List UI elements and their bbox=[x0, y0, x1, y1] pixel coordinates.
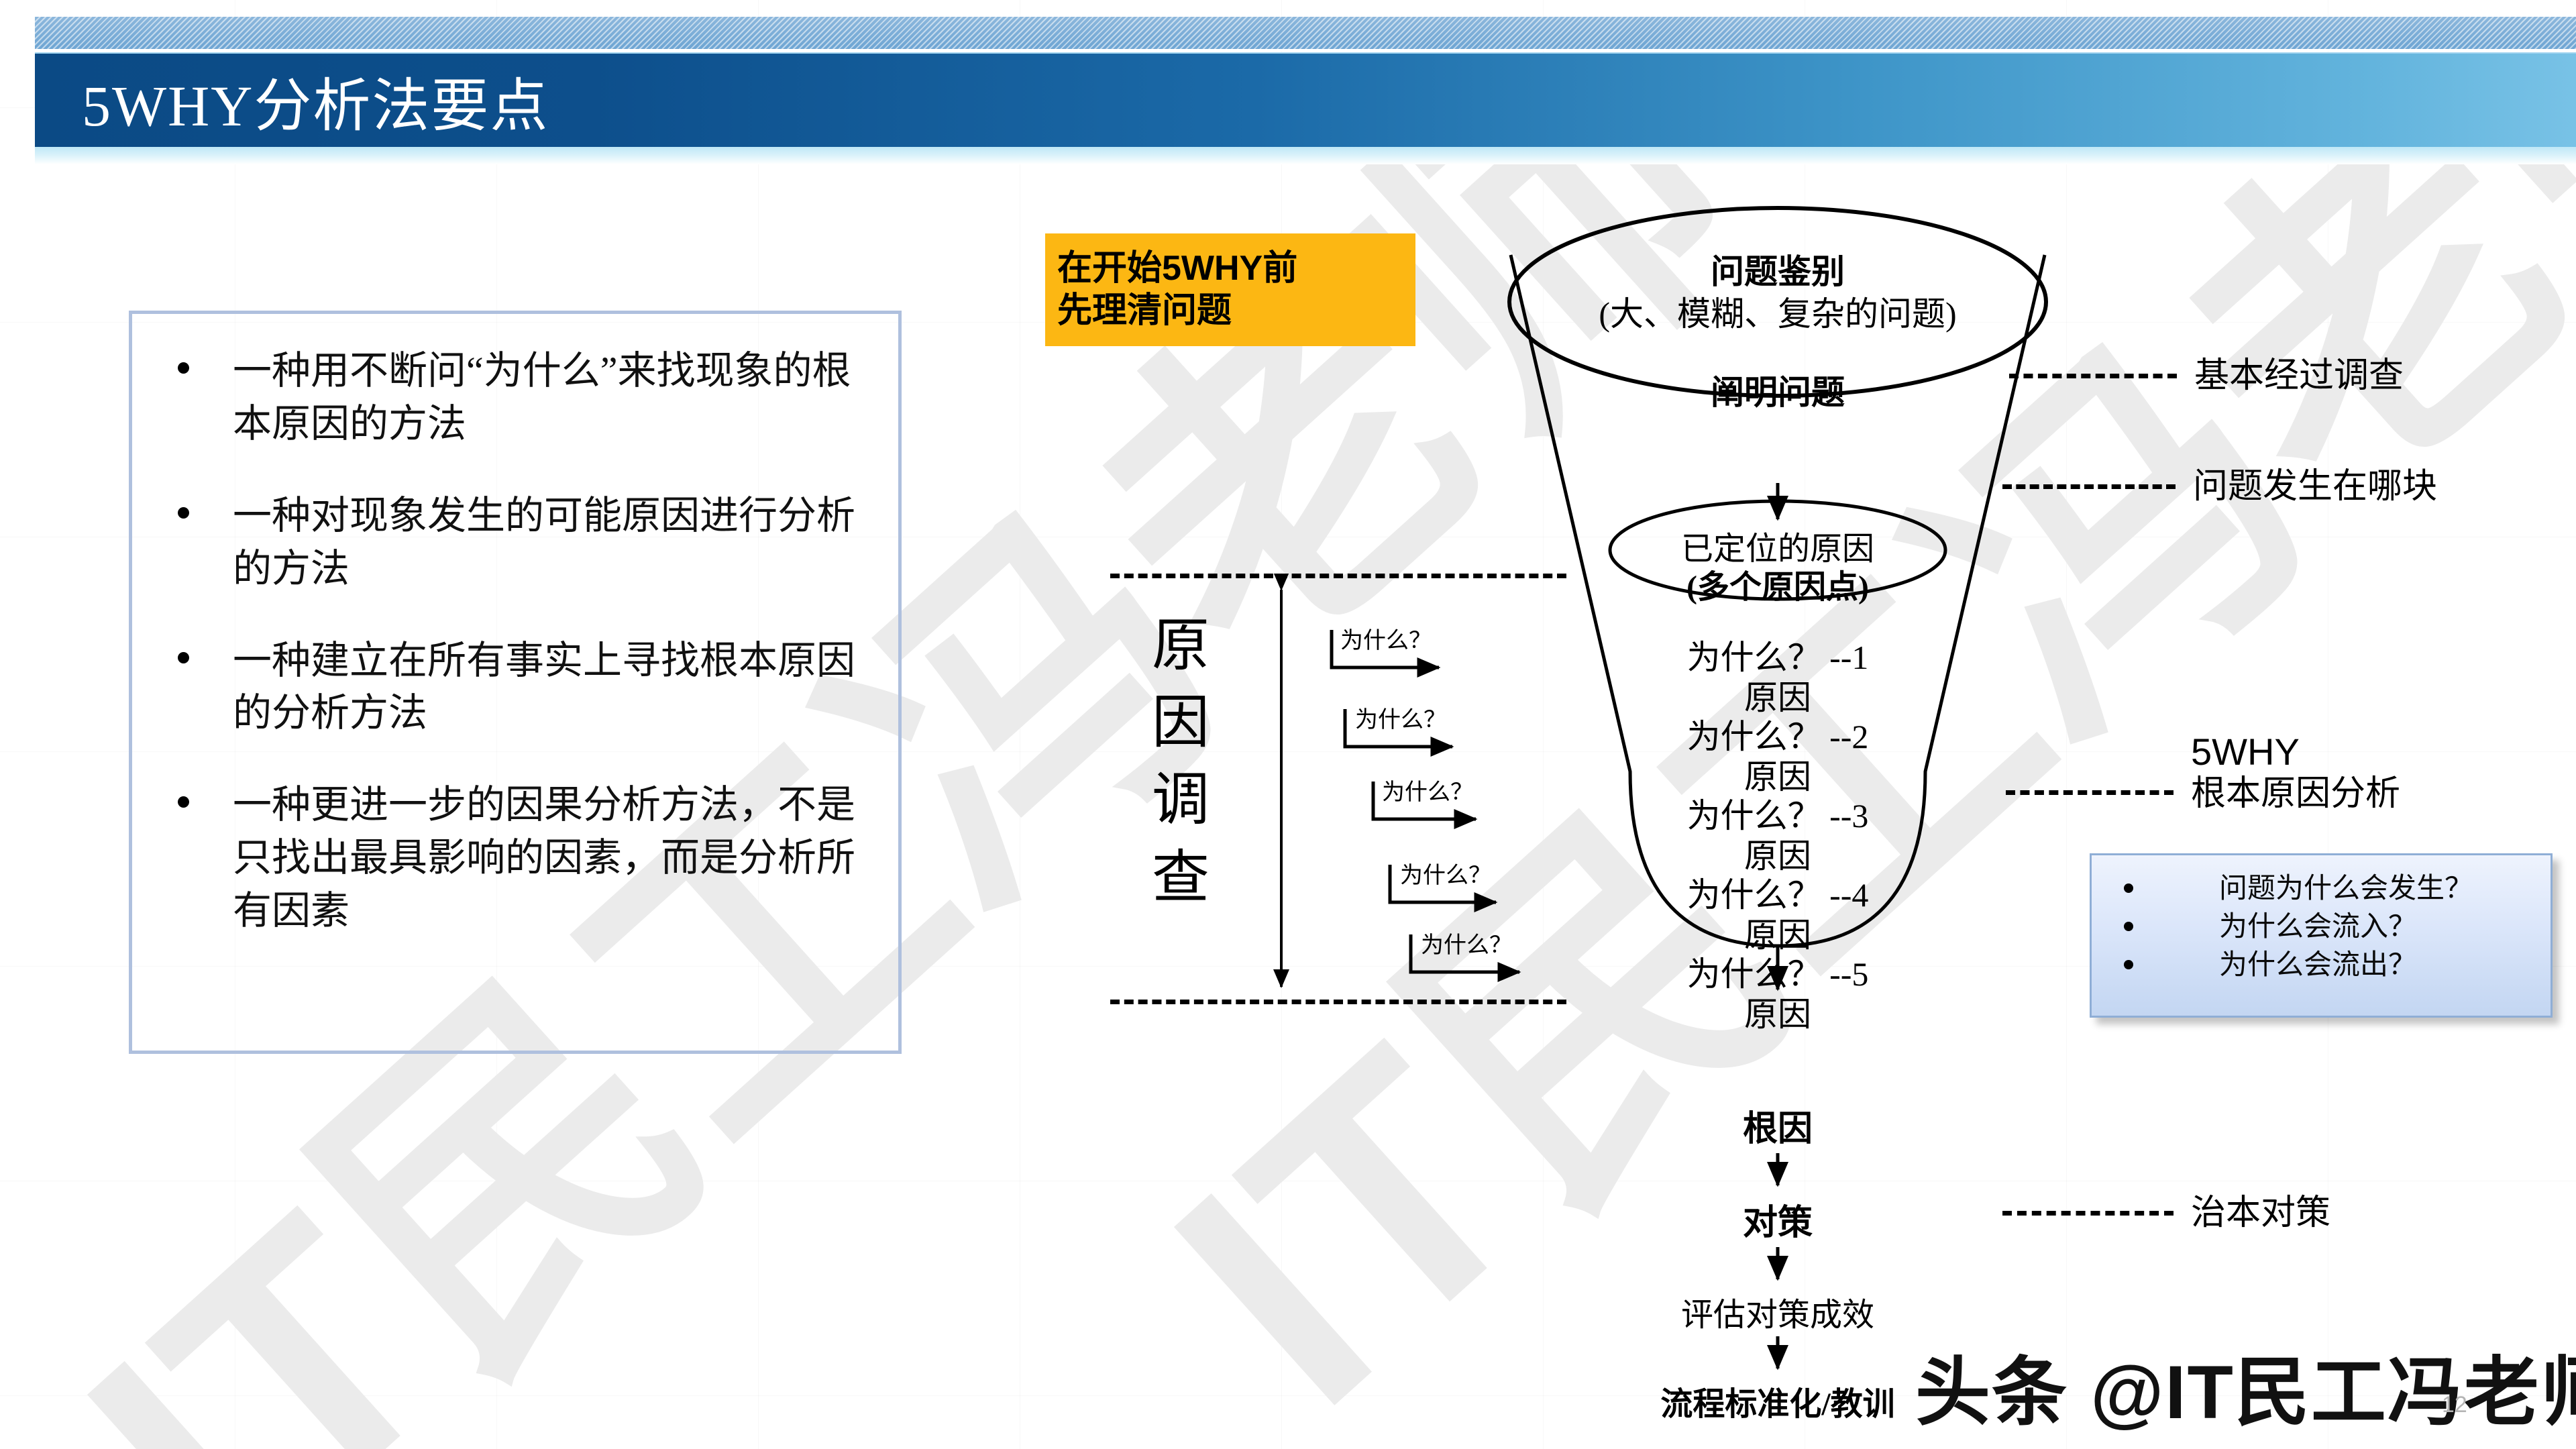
list-item: 一种用不断问“为什么”来找现象的根本原因的方法 bbox=[132, 345, 878, 451]
list-item-label: 一种对现象发生的可能原因进行分析的方法 bbox=[233, 494, 855, 590]
list-item: 问题为什么会发生？ bbox=[2092, 870, 2551, 908]
page-title: 5WHY分析法要点 bbox=[82, 58, 549, 142]
definition-list: 一种用不断问“为什么”来找现象的根本原因的方法 一种对现象发生的可能原因进行分析… bbox=[132, 314, 898, 938]
funnel-top-label-2: (大、模糊、复杂的问题) bbox=[1462, 287, 2093, 335]
funnel-cause-5: 原因 bbox=[1462, 987, 2093, 1036]
annotation-label: 治本对策 bbox=[2191, 1193, 2330, 1234]
list-item-label: 一种建立在所有事实上寻找根本原因的分析方法 bbox=[233, 639, 855, 735]
list-item-label: 问题为什么会发生？ bbox=[2219, 873, 2473, 904]
header-under-strip bbox=[35, 147, 2576, 164]
title-band: 5WHY分析法要点 bbox=[35, 52, 2576, 147]
annotation-label: 基本经过调查 bbox=[2194, 356, 2404, 396]
annotation-leader-line bbox=[2002, 1211, 2173, 1216]
list-item: 为什么会流入？ bbox=[2092, 908, 2551, 947]
bullet-dot-icon bbox=[2124, 960, 2133, 969]
list-item: 一种更进一步的因果分析方法，不是只找出最具影响的因素，而是分析所有因素 bbox=[132, 779, 878, 938]
bullet-dot-icon bbox=[2124, 922, 2133, 931]
annotation-label: 问题发生在哪块 bbox=[2193, 466, 2437, 507]
annotation-leader-line bbox=[2002, 484, 2176, 489]
root-cause-label: 根因 bbox=[1462, 1100, 2093, 1150]
list-item-label: 为什么会流入？ bbox=[2219, 912, 2416, 943]
annotation-leader-line bbox=[2006, 790, 2173, 795]
funnel-top-label-1: 问题鉴别 bbox=[1462, 245, 2093, 293]
header-hatch-strip bbox=[35, 17, 2576, 51]
list-item: 为什么会流出？ bbox=[2092, 947, 2551, 985]
page-number: 12 bbox=[2442, 1392, 2467, 1418]
annotation-basic-investigation: 基本经过调查 bbox=[2009, 356, 2404, 396]
countermeasure-label: 对策 bbox=[1462, 1194, 2093, 1244]
funnel-clarify-label: 阐明问题 bbox=[1462, 366, 2093, 414]
list-item: 一种建立在所有事实上寻找根本原因的分析方法 bbox=[132, 635, 878, 741]
orange-callout-box: 在开始5WHY前 先理清问题 bbox=[1045, 233, 1415, 346]
list-item: 一种对现象发生的可能原因进行分析的方法 bbox=[132, 490, 878, 596]
why-arrow-label-2: 为什么？ bbox=[1355, 701, 1446, 734]
annotation-label-5why: 5WHY bbox=[2191, 731, 2400, 773]
five-why-question-box: 问题为什么会发生？ 为什么会流入？ 为什么会流出？ bbox=[2090, 853, 2553, 1018]
bullet-dot-icon bbox=[178, 652, 189, 663]
bullet-dot-icon bbox=[178, 507, 189, 519]
annotation-where-occurred: 问题发生在哪块 bbox=[2002, 466, 2437, 507]
list-item-label: 为什么会流出？ bbox=[2219, 950, 2416, 981]
bullet-dot-icon bbox=[2124, 883, 2133, 893]
annotation-5why-rca: 5WHY 根本原因分析 bbox=[2006, 770, 2400, 815]
arrow-down-icon bbox=[1462, 1150, 2093, 1191]
why-arrow-label-3: 为什么？ bbox=[1382, 773, 1473, 806]
five-why-question-list: 问题为什么会发生？ 为什么会流入？ 为什么会流出？ bbox=[2092, 870, 2551, 985]
evaluate-label: 评估对策成效 bbox=[1462, 1288, 2093, 1335]
list-item-label: 一种用不断问“为什么”来找现象的根本原因的方法 bbox=[233, 349, 851, 445]
list-item-label: 一种更进一步的因果分析方法，不是只找出最具影响的因素，而是分析所有因素 bbox=[233, 783, 855, 932]
bullet-dot-icon bbox=[178, 796, 189, 808]
why-arrow-label-1: 为什么？ bbox=[1340, 622, 1432, 655]
annotation-label-rca: 根本原因分析 bbox=[2191, 773, 2400, 815]
arrow-down-icon bbox=[1462, 1244, 2093, 1285]
callout-line-2: 先理清问题 bbox=[1057, 290, 1415, 332]
definition-panel: 一种用不断问“为什么”来找现象的根本原因的方法 一种对现象发生的可能原因进行分析… bbox=[129, 311, 902, 1054]
annotation-leader-line bbox=[2009, 374, 2177, 378]
bullet-dot-icon bbox=[178, 362, 189, 374]
funnel-mid-label-2: (多个原因点) bbox=[1462, 560, 2093, 607]
footer-watermark: 头条 @IT民工冯老师 bbox=[1915, 1332, 2576, 1440]
funnel-diagram: 问题鉴别 (大、模糊、复杂的问题) 阐明问题 已定位的原因 (多个原因点) 为什… bbox=[1462, 168, 2093, 1161]
callout-line-1: 在开始5WHY前 bbox=[1057, 248, 1415, 290]
annotation-fundamental-countermeasure: 治本对策 bbox=[2002, 1193, 2330, 1234]
